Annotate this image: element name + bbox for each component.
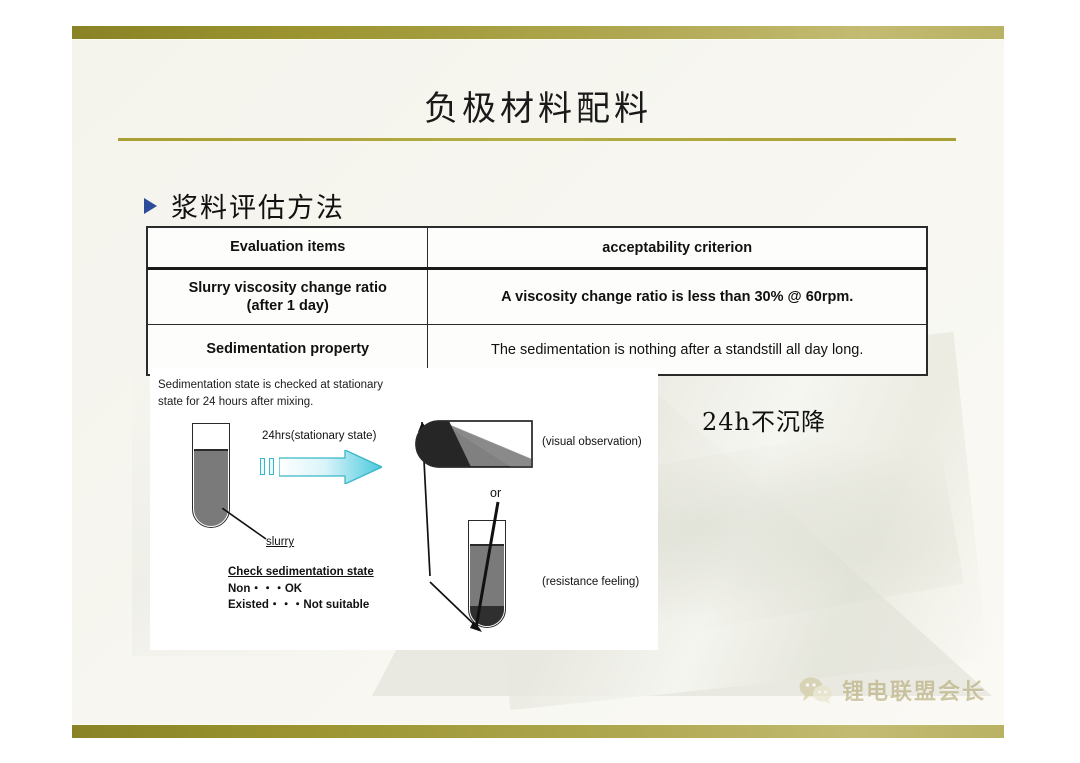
visual-observation-label: (visual observation) (542, 436, 642, 448)
slurry-label: slurry (266, 536, 294, 548)
or-label: or (490, 486, 501, 500)
slide-canvas: 负极材料配料 浆料评估方法 Evaluation items acceptabi… (72, 26, 1004, 738)
arrow-tick-1 (260, 458, 265, 475)
section-heading: 浆料评估方法 (144, 186, 345, 225)
arrow-tick-2 (269, 458, 274, 475)
slurry-leader-line-icon (222, 508, 270, 542)
top-gold-bar (72, 26, 1004, 39)
table-header-acceptability-criterion: acceptability criterion (428, 228, 927, 269)
side-note-24h: 24h不沉降 (702, 402, 826, 437)
table-cell-criterion-viscosity: A viscosity change ratio is less than 30… (428, 269, 927, 325)
triangle-right-bullet-icon (144, 198, 157, 214)
horizontal-test-tube-icon (415, 420, 533, 468)
figure-caption-line2: state for 24 hours after mixing. (158, 394, 383, 411)
table-row: Slurry viscosity change ratio (after 1 d… (148, 269, 927, 325)
table-cell-item-sedimentation: Sedimentation property (148, 325, 428, 375)
figure-caption-line1: Sedimentation state is checked at statio… (158, 377, 383, 394)
table-row: Sedimentation property The sedimentation… (148, 325, 927, 375)
table-cell-item-viscosity-line1: Slurry viscosity change ratio (154, 279, 421, 297)
test-tube2-fill-line (470, 544, 505, 546)
section-heading-label: 浆料评估方法 (171, 186, 345, 225)
table-cell-criterion-sedimentation: The sedimentation is nothing after a sta… (428, 325, 927, 375)
sedimentation-figure: Sedimentation state is checked at statio… (150, 368, 658, 650)
check-sedimentation-block: Check sedimentation state Non・・・OK Exist… (228, 564, 374, 614)
stationary-state-arrow-label: 24hrs(stationary state) (262, 430, 376, 442)
test-tube-sediment-icon (468, 520, 506, 628)
table-header-evaluation-items: Evaluation items (148, 228, 428, 269)
check-sedimentation-existed: Existed・・・Not suitable (228, 597, 374, 614)
wechat-watermark-label: 锂电联盟会长 (842, 674, 986, 706)
wechat-icon (799, 676, 833, 704)
title-underline-rule (118, 138, 956, 141)
check-sedimentation-title: Check sedimentation state (228, 564, 374, 581)
stationary-state-arrow-icon (260, 450, 382, 484)
table-cell-item-viscosity-line2: (after 1 day) (154, 297, 421, 315)
check-sedimentation-non-ok: Non・・・OK (228, 581, 374, 598)
evaluation-table: Evaluation items acceptability criterion… (146, 226, 928, 376)
wechat-watermark: 锂电联盟会长 (799, 674, 986, 706)
table-cell-item-viscosity: Slurry viscosity change ratio (after 1 d… (148, 269, 428, 325)
bottom-gold-bar (72, 725, 1004, 738)
figure-caption: Sedimentation state is checked at statio… (158, 377, 383, 410)
resistance-feeling-label: (resistance feeling) (542, 576, 639, 588)
arrow-body-icon (279, 450, 382, 484)
test-tube-fill-line (194, 449, 229, 451)
table-header-row: Evaluation items acceptability criterion (148, 228, 927, 269)
page-title: 负极材料配料 (72, 81, 1004, 130)
